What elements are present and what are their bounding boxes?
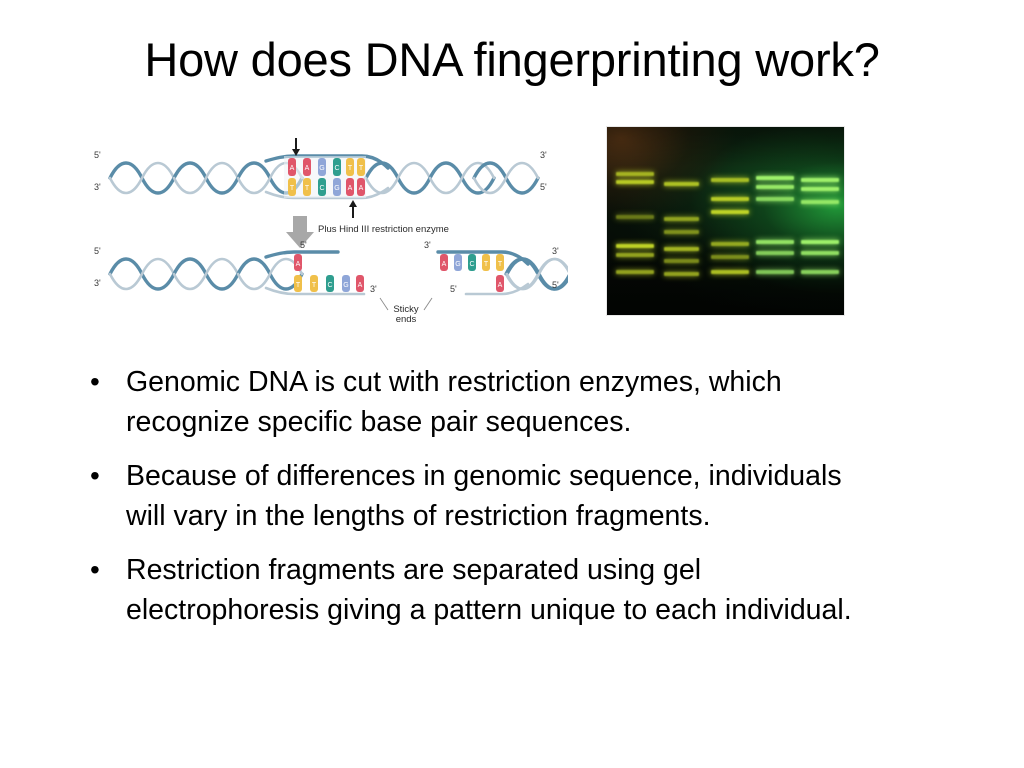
svg-text:T: T xyxy=(290,185,295,192)
gel-lane-5 xyxy=(801,127,839,315)
bullet-item-1: •Genomic DNA is cut with restriction enz… xyxy=(80,362,960,442)
svg-text:G: G xyxy=(455,261,460,268)
page-title: How does DNA fingerprinting work? xyxy=(0,34,1024,86)
svg-text:5': 5' xyxy=(450,284,457,294)
sticky-ends-callout: Sticky ends xyxy=(380,298,432,325)
svg-text:A: A xyxy=(442,261,447,268)
bullet-marker: • xyxy=(80,456,126,496)
gel-band xyxy=(711,178,749,182)
gel-lane-2 xyxy=(664,127,700,315)
svg-text:G: G xyxy=(334,185,339,192)
svg-text:3': 3' xyxy=(370,284,377,294)
svg-text:T: T xyxy=(498,261,503,268)
gel-lane-1 xyxy=(616,127,654,315)
gel-band xyxy=(616,244,654,248)
svg-text:3': 3' xyxy=(424,240,431,250)
svg-text:T: T xyxy=(296,282,301,289)
gel-band xyxy=(664,230,700,234)
svg-text:3': 3' xyxy=(552,246,559,256)
cut-site-arrow-top xyxy=(292,138,300,156)
bullet-item-2: •Because of differences in genomic seque… xyxy=(80,456,960,536)
bullet-line-1: Genomic DNA is cut with restriction enzy… xyxy=(126,366,782,398)
gel-band xyxy=(664,217,700,221)
svg-text:A: A xyxy=(348,185,353,192)
svg-text:A: A xyxy=(359,185,364,192)
gel-band xyxy=(664,247,700,251)
bullet-marker: • xyxy=(80,550,126,590)
bullet-line-2: recognize specific base pair sequences. xyxy=(126,402,960,442)
slide-canvas: How does DNA fingerprinting work? xyxy=(0,0,1024,768)
svg-text:T: T xyxy=(312,282,317,289)
svg-text:C: C xyxy=(334,165,339,172)
cut-site-arrow-bottom xyxy=(349,200,357,218)
bullet-text: Because of differences in genomic sequen… xyxy=(126,456,960,536)
gel-band xyxy=(801,270,839,274)
gel-band xyxy=(756,270,794,274)
bullet-text: Restriction fragments are separated usin… xyxy=(126,550,960,630)
svg-text:A: A xyxy=(296,261,301,268)
enzyme-caption: Plus Hind III restriction enzyme xyxy=(318,224,449,235)
svg-text:C: C xyxy=(319,185,324,192)
svg-text:G: G xyxy=(343,282,348,289)
label-5-prime-bottom-right: 5' xyxy=(540,182,547,192)
gel-band xyxy=(756,251,794,255)
bullet-text: Genomic DNA is cut with restriction enzy… xyxy=(126,362,960,442)
svg-text:A: A xyxy=(498,282,503,289)
bullet-line-1: Because of differences in genomic sequen… xyxy=(126,460,842,492)
svg-text:T: T xyxy=(305,185,310,192)
svg-text:5': 5' xyxy=(300,240,307,250)
bullet-item-3: •Restriction fragments are separated usi… xyxy=(80,550,960,630)
gel-band xyxy=(801,251,839,255)
right-dna-fragment: A G C T T A 3' 5' 3' 5' xyxy=(424,240,568,294)
svg-text:T: T xyxy=(359,165,364,172)
gel-lane-3 xyxy=(711,127,749,315)
gel-band xyxy=(616,215,654,219)
svg-text:A: A xyxy=(290,165,295,172)
left-dna-fragment: AT T C G A 5' 3' 5' 3' xyxy=(94,240,377,294)
svg-text:G: G xyxy=(319,165,324,172)
svg-text:T: T xyxy=(484,261,489,268)
gel-band xyxy=(756,240,794,244)
gel-band xyxy=(711,197,749,201)
gel-band xyxy=(711,210,749,214)
gel-band xyxy=(616,180,654,184)
svg-text:5': 5' xyxy=(94,246,101,256)
gel-band xyxy=(664,272,700,276)
gel-band xyxy=(756,176,794,180)
svg-text:A: A xyxy=(305,165,310,172)
gel-band xyxy=(664,182,700,186)
gel-band xyxy=(664,259,700,263)
svg-text:5': 5' xyxy=(552,280,559,290)
svg-text:C: C xyxy=(327,282,332,289)
label-3-prime-top-right: 3' xyxy=(540,150,547,160)
bullet-line-2: electrophoresis giving a pattern unique … xyxy=(126,590,960,630)
intact-dna-duplex: AT AT GC CG TA TA xyxy=(94,138,547,218)
gel-electrophoresis-image xyxy=(606,126,845,316)
bullet-list: •Genomic DNA is cut with restriction enz… xyxy=(80,362,960,644)
gel-band xyxy=(711,242,749,246)
gel-lanes-container xyxy=(607,127,844,315)
gel-band xyxy=(801,240,839,244)
gel-band xyxy=(616,172,654,176)
svg-text:3': 3' xyxy=(94,278,101,288)
dna-restriction-diagram: AT AT GC CG TA TA xyxy=(88,130,568,325)
sticky-ends-label-line2: ends xyxy=(396,314,417,325)
gel-band xyxy=(801,200,839,204)
gel-band xyxy=(756,197,794,201)
gel-band xyxy=(711,255,749,259)
label-5-prime-top-left: 5' xyxy=(94,150,101,160)
gel-lane-4 xyxy=(756,127,794,315)
bullet-marker: • xyxy=(80,362,126,402)
label-3-prime-bottom-left: 3' xyxy=(94,182,101,192)
svg-text:A: A xyxy=(358,282,363,289)
gel-band xyxy=(801,178,839,182)
gel-band xyxy=(616,270,654,274)
gel-band xyxy=(801,187,839,191)
svg-text:C: C xyxy=(469,261,474,268)
bullet-line-1: Restriction fragments are separated usin… xyxy=(126,554,701,586)
gel-band xyxy=(616,253,654,257)
gel-band xyxy=(711,270,749,274)
svg-text:T: T xyxy=(348,165,353,172)
gel-band xyxy=(756,185,794,189)
bullet-line-2: will vary in the lengths of restriction … xyxy=(126,496,960,536)
